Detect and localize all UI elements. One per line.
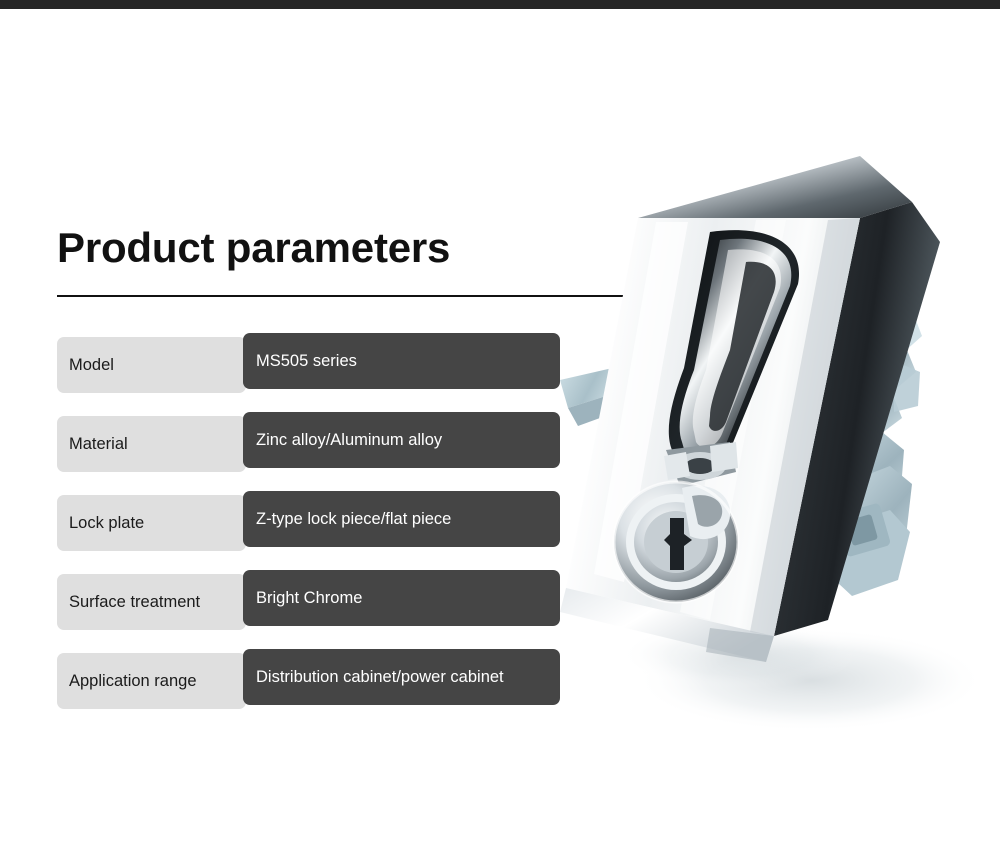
spec-value-cell: Z-type lock piece/flat piece — [243, 491, 560, 547]
spec-key-cell: Model — [57, 337, 246, 393]
table-row: Lock plate Z-type lock piece/flat piece — [57, 491, 567, 570]
spec-value-cell: Distribution cabinet/power cabinet — [243, 649, 560, 705]
table-row: Material Zinc alloy/Aluminum alloy — [57, 412, 567, 491]
spec-value: Bright Chrome — [256, 589, 362, 608]
product-parameters-page: Product parameters Model MS505 series Ma… — [0, 0, 1000, 851]
top-bar — [0, 0, 1000, 9]
spec-key-cell: Material — [57, 416, 246, 472]
spec-value: Distribution cabinet/power cabinet — [256, 668, 504, 687]
table-row: Surface treatment Bright Chrome — [57, 570, 567, 649]
spec-label: Material — [69, 435, 128, 454]
spec-label: Lock plate — [69, 514, 144, 533]
table-row: Model MS505 series — [57, 333, 567, 412]
table-row: Application range Distribution cabinet/p… — [57, 649, 567, 728]
product-photo — [560, 150, 1000, 770]
spec-label: Model — [69, 356, 114, 375]
spec-key-cell: Surface treatment — [57, 574, 246, 630]
spec-value-cell: MS505 series — [243, 333, 560, 389]
spec-value: Zinc alloy/Aluminum alloy — [256, 431, 442, 450]
spec-label: Surface treatment — [69, 593, 200, 612]
spec-label: Application range — [69, 672, 197, 691]
spec-value: Z-type lock piece/flat piece — [256, 510, 451, 529]
spec-key-cell: Application range — [57, 653, 246, 709]
spec-value-cell: Bright Chrome — [243, 570, 560, 626]
spec-value-cell: Zinc alloy/Aluminum alloy — [243, 412, 560, 468]
key-cylinder — [614, 482, 738, 602]
spec-key-cell: Lock plate — [57, 495, 246, 551]
spec-table: Model MS505 series Material Zinc alloy/A… — [57, 333, 567, 728]
spec-value: MS505 series — [256, 352, 357, 371]
page-title: Product parameters — [57, 224, 450, 272]
